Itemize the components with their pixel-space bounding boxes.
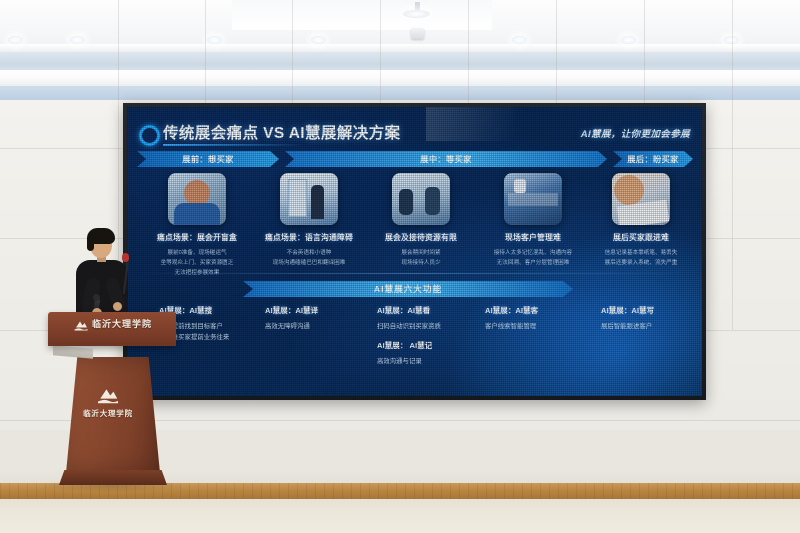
gooseneck-microphone-head-icon [122, 253, 129, 262]
floor [0, 499, 800, 533]
solution-description: 高效无障碍沟通 [265, 321, 318, 332]
solution-heading-secondary: AI慧展： AI慧记 [377, 340, 441, 351]
card-description: 信息记录基本靠纸笔、易丢失 展后还要录入系统、流失严重 [589, 249, 693, 269]
downlight-icon [70, 36, 85, 44]
solution-item: AI慧展：AI慧客 客户线索智能管理 [485, 305, 603, 332]
solution-description: 展后智能跟进客户 [601, 321, 654, 332]
podium-institution-name-top: 临沂大理学院 [92, 317, 152, 330]
card-title: 展会及接待资源有限 [369, 232, 473, 243]
ring-bullet-icon [139, 125, 160, 146]
podium-institution-name-body: 临沂大理学院 [76, 408, 140, 419]
card-thumbnail [168, 173, 226, 225]
solution-heading: AI慧展：AI慧看 [377, 305, 441, 316]
ceiling-beam [0, 70, 800, 86]
card-thumbnail [280, 173, 338, 225]
solution-item: AI慧展：AI慧译 高效无障碍沟通 [265, 305, 318, 332]
slide-title: 传统展会痛点 VS AI慧展解决方案 [163, 121, 400, 143]
ceiling-pendant-light-icon [403, 10, 430, 18]
lectern-podium: 临沂大理学院 临沂大理学院 [48, 312, 176, 487]
institution-emblem-icon [74, 318, 88, 329]
stage-chevron-post: 展后：盼买家 [613, 151, 693, 167]
slide-header: 传统展会痛点 VS AI慧展解决方案 AI慧展，让你更加会参展 [139, 121, 692, 147]
pain-point-card-row: 痛点场景：展会开盲盒 展前0准备、现场碰运气 坐等观众上门、买家资源匮乏 无法把… [137, 173, 694, 265]
wall-panel-seam [732, 0, 733, 330]
stage-arrow-band: 展前：想买家 展中：等买家 展后：盼买家 [137, 151, 694, 167]
downlight-icon [512, 36, 527, 44]
card-description: 不会英语和小语种 现场沟通磕磕巴巴和翻译困难 [257, 249, 361, 269]
pain-point-card: 现场客户管理难 接待人太多记忆混乱、沟通内容 无法回溯、客户分层管理困难 [481, 173, 585, 269]
solution-heading: AI慧展：AI慧客 [485, 305, 603, 316]
presenter-hair-side [87, 235, 94, 251]
solution-description-secondary: 高效沟通与记录 [377, 356, 441, 367]
downlight-icon [8, 36, 23, 44]
pain-point-card: 痛点场景：展会开盲盒 展前0准备、现场碰运气 坐等观众上门、买家资源匮乏 无法把… [145, 173, 249, 278]
card-title: 痛点场景：展会开盲盒 [145, 232, 249, 243]
microphone-capsule-icon [93, 294, 100, 301]
solutions-row: AI慧展：AI慧搜 展前提前找到目标客户 与精准买家提前业务往来 AI慧展：AI… [137, 305, 694, 385]
slide-tagline: AI慧展，让你更加会参展 [581, 126, 690, 140]
solution-item: AI慧展：AI慧写 展后智能跟进客户 [601, 305, 654, 332]
title-underline [163, 144, 305, 146]
card-title: 痛点场景：语言沟通障碍 [257, 232, 361, 243]
ceiling-inset-panel [232, 0, 492, 30]
podium-top-panel: 临沂大理学院 [48, 312, 176, 346]
podium-base [59, 470, 167, 485]
downlight-icon [621, 36, 636, 44]
card-thumbnail [392, 173, 450, 225]
card-description: 接待人太多记忆混乱、沟通内容 无法回溯、客户分层管理困难 [481, 249, 585, 269]
pain-point-card: 展会及接待资源有限 展会期间时间紧 现场接待人员少 [369, 173, 473, 269]
solution-heading: AI慧展：AI慧译 [265, 305, 318, 316]
stage-chevron-mid: 展中：等买家 [285, 151, 607, 167]
solution-description: 扫码自动识别买家资质 [377, 321, 441, 332]
card-thumbnail [504, 173, 562, 225]
pain-point-card: 展后买家跟进难 信息记录基本靠纸笔、易丢失 展后还要录入系统、流失严重 [589, 173, 693, 269]
downlight-icon [207, 36, 222, 44]
solution-description: 客户线索智能管理 [485, 321, 603, 332]
stage-chevron-pre: 展前：想买家 [137, 151, 279, 167]
card-title: 展后买家跟进难 [589, 232, 693, 243]
conference-room-scene: 传统展会痛点 VS AI慧展解决方案 AI慧展，让你更加会参展 展前：想买家 展… [0, 0, 800, 533]
institution-emblem-icon-large [97, 387, 119, 404]
ceiling-cove-band-lower [0, 86, 800, 100]
card-thumbnail [612, 173, 670, 225]
card-title: 现场客户管理难 [481, 232, 585, 243]
solution-item: AI慧展：AI慧看 扫码自动识别买家资质 AI慧展： AI慧记 高效沟通与记录 [377, 305, 441, 367]
projector-icon [411, 28, 424, 39]
downlight-icon [311, 36, 326, 44]
card-description: 展会期间时间紧 现场接待人员少 [369, 249, 473, 269]
led-presentation-screen: 传统展会痛点 VS AI慧展解决方案 AI慧展，让你更加会参展 展前：想买家 展… [127, 107, 702, 396]
solution-heading: AI慧展：AI慧写 [601, 305, 654, 316]
section-divider [137, 273, 694, 274]
pain-point-card: 痛点场景：语言沟通障碍 不会英语和小语种 现场沟通磕磕巴巴和翻译困难 [257, 173, 361, 269]
solutions-banner: AI慧展六大功能 [243, 281, 573, 297]
podium-shelf [53, 345, 93, 358]
presenter-right-hand [113, 302, 122, 311]
